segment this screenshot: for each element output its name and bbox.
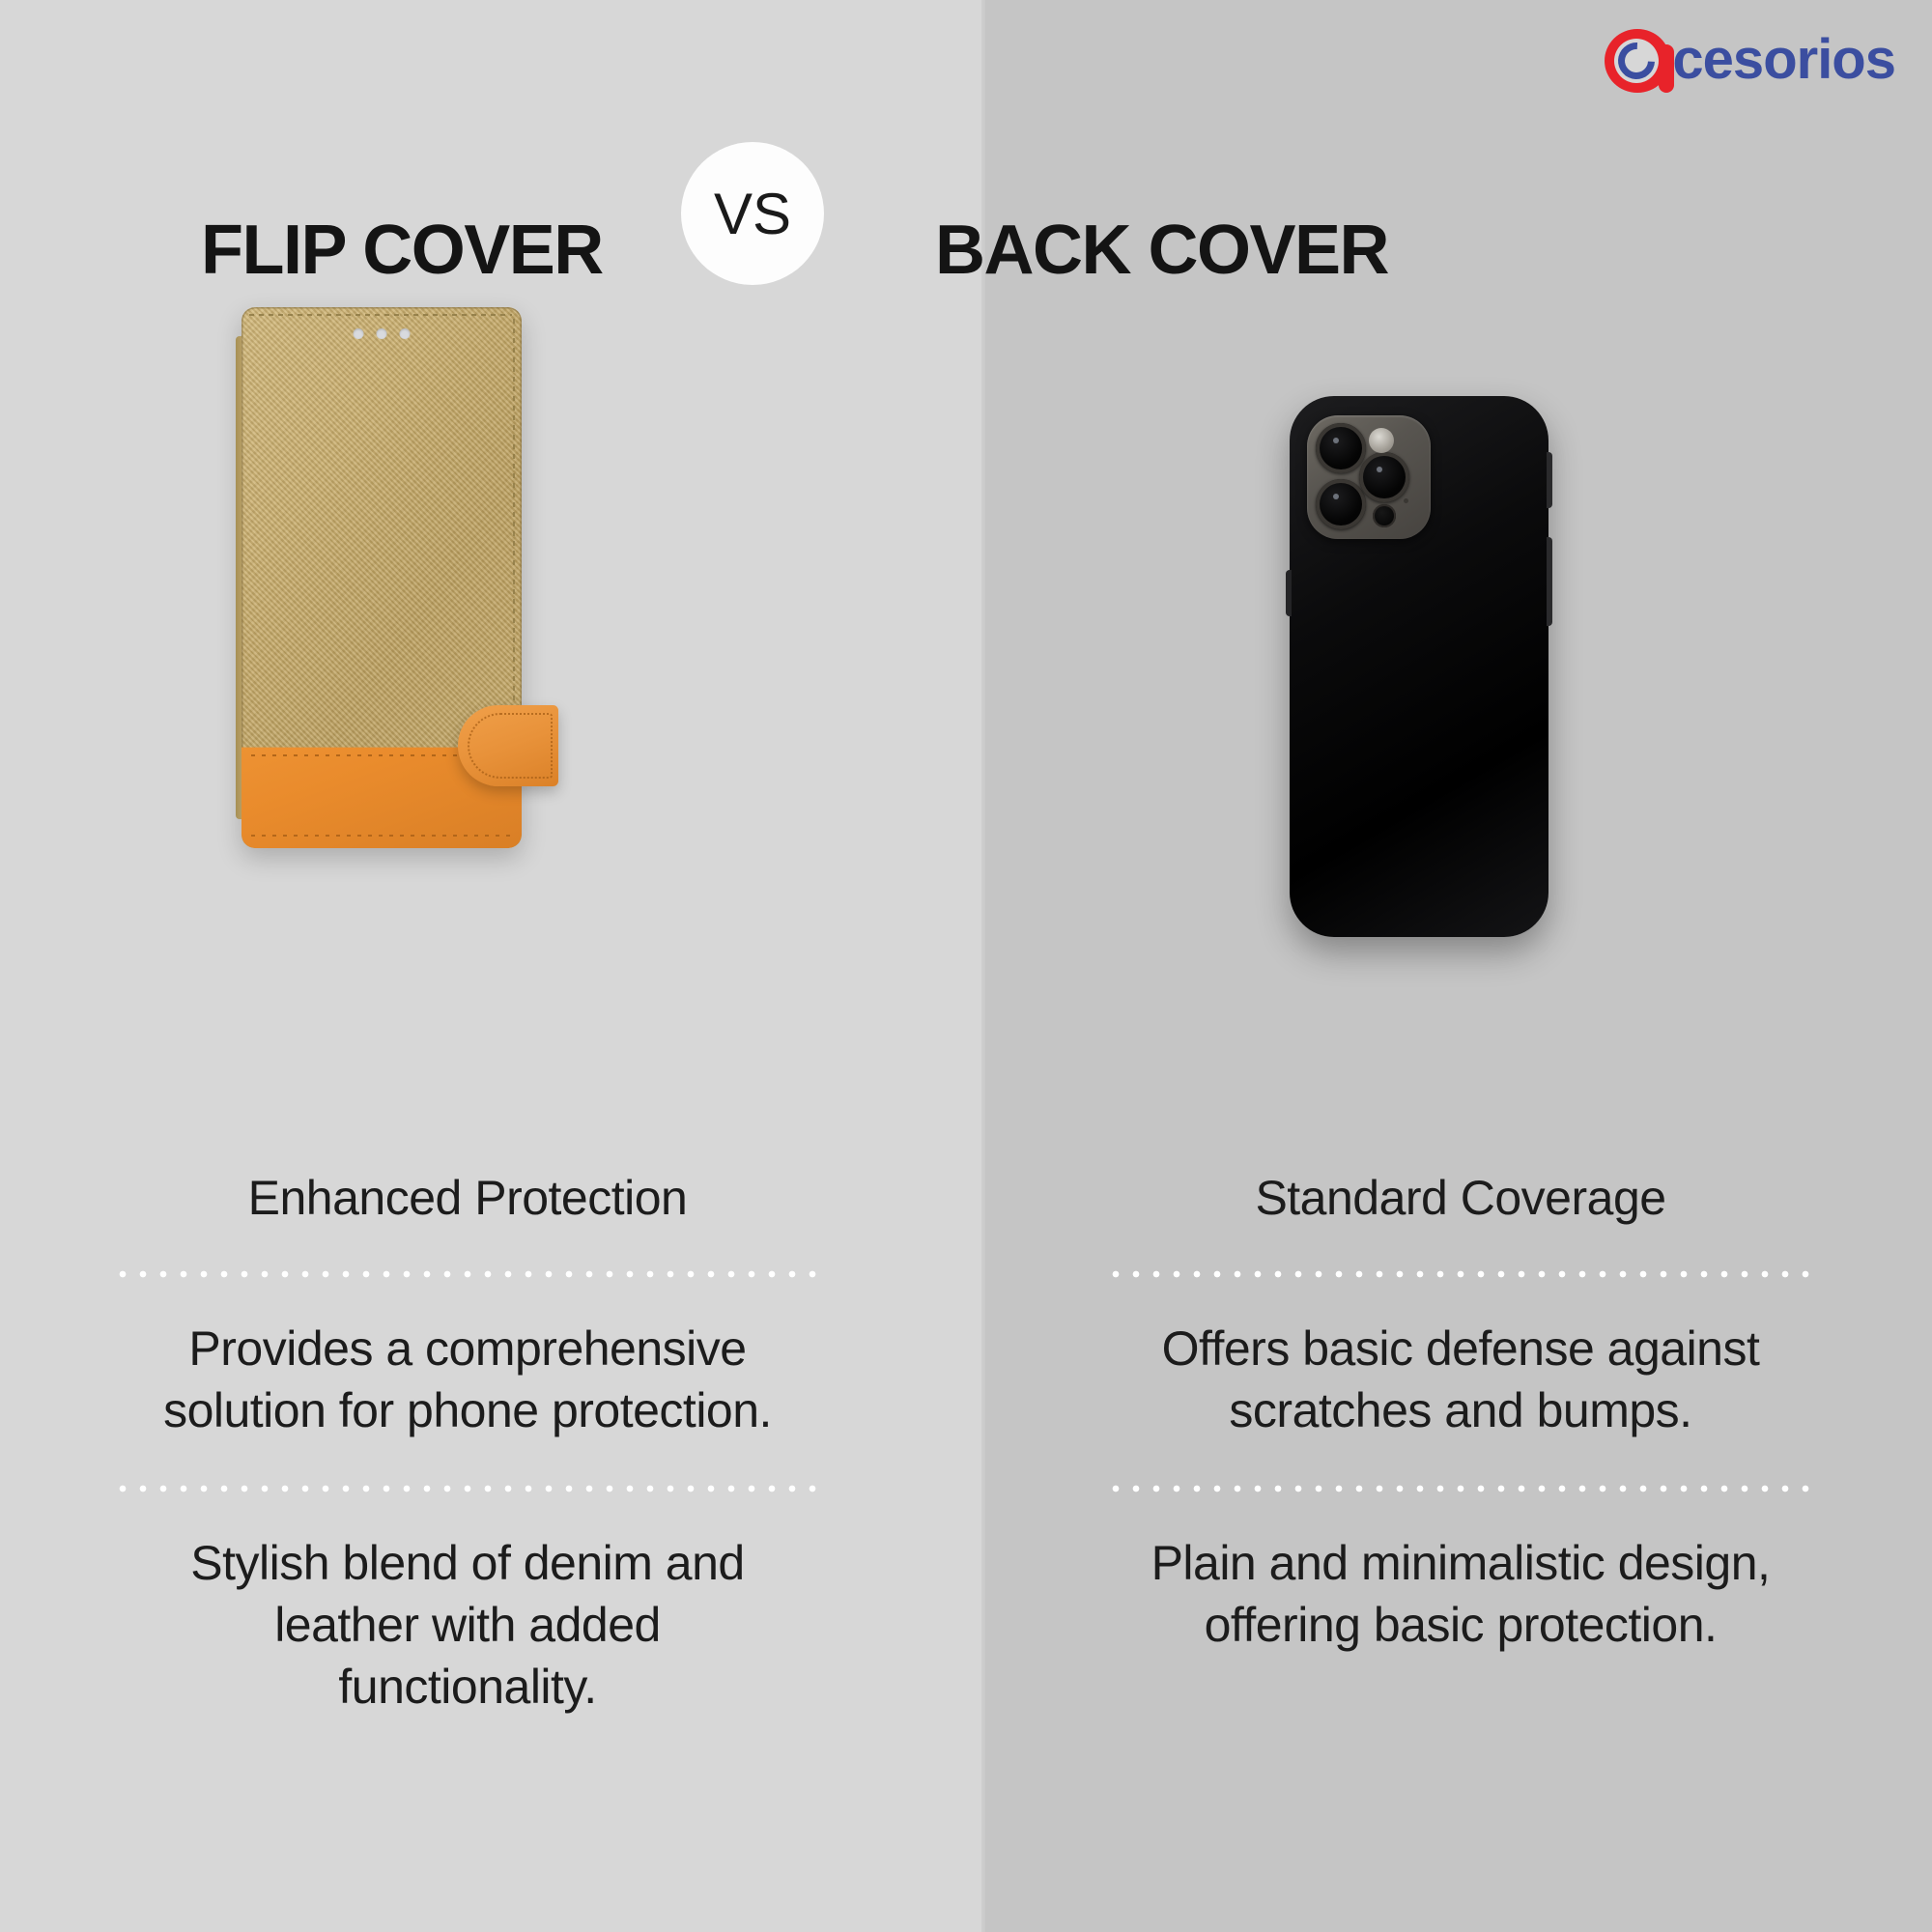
back-cover-shell — [1290, 396, 1548, 937]
camera-module-icon — [1307, 415, 1431, 539]
center-divider — [981, 0, 985, 1932]
feature-text: Plain and minimalistic design, offering … — [1007, 1532, 1915, 1656]
camera-lens-icon — [1316, 479, 1366, 529]
dotted-divider — [1103, 1484, 1818, 1493]
heading-back-cover: BACK COVER — [935, 211, 1388, 290]
feature-column-back-cover: Standard Coverage Offers basic defense a… — [1007, 1169, 1915, 1656]
vs-label: VS — [714, 181, 791, 247]
feature-text: Stylish blend of denim and leather with … — [14, 1532, 922, 1718]
feature-title: Enhanced Protection — [14, 1169, 922, 1227]
brand-logo[interactable]: cesorios — [1605, 21, 1895, 99]
logo-wordmark: cesorios — [1672, 32, 1895, 88]
dotted-divider — [1103, 1269, 1818, 1279]
lidar-sensor-icon — [1373, 504, 1396, 527]
microphone-dot-icon — [1404, 498, 1408, 503]
back-cover-volume-cutout — [1547, 537, 1552, 626]
feature-text: Offers basic defense against scratches a… — [1007, 1318, 1915, 1441]
flip-cover-magnetic-tab — [458, 705, 558, 786]
product-image-flip-cover — [241, 307, 522, 848]
flip-cover-top-stitching — [249, 314, 512, 316]
product-image-back-cover — [1290, 396, 1548, 937]
camera-flash-icon — [1369, 428, 1394, 453]
camera-lens-icon — [1359, 452, 1409, 502]
vs-badge: VS — [681, 142, 824, 285]
feature-column-flip-cover: Enhanced Protection Provides a comprehen… — [14, 1169, 922, 1718]
dotted-divider — [110, 1269, 825, 1279]
flip-cover-snap-dots — [354, 328, 411, 339]
camera-lens-icon — [1316, 423, 1366, 473]
feature-text: Provides a comprehensive solution for ph… — [14, 1318, 922, 1441]
back-cover-volume-cutout — [1547, 452, 1552, 508]
dotted-divider — [110, 1484, 825, 1493]
logo-a-icon — [1605, 25, 1674, 95]
back-cover-power-cutout — [1286, 570, 1292, 616]
comparison-infographic: cesorios FLIP COVER BACK COVER VS — [0, 0, 1932, 1932]
feature-title: Standard Coverage — [1007, 1169, 1915, 1227]
heading-flip-cover: FLIP COVER — [201, 211, 603, 290]
